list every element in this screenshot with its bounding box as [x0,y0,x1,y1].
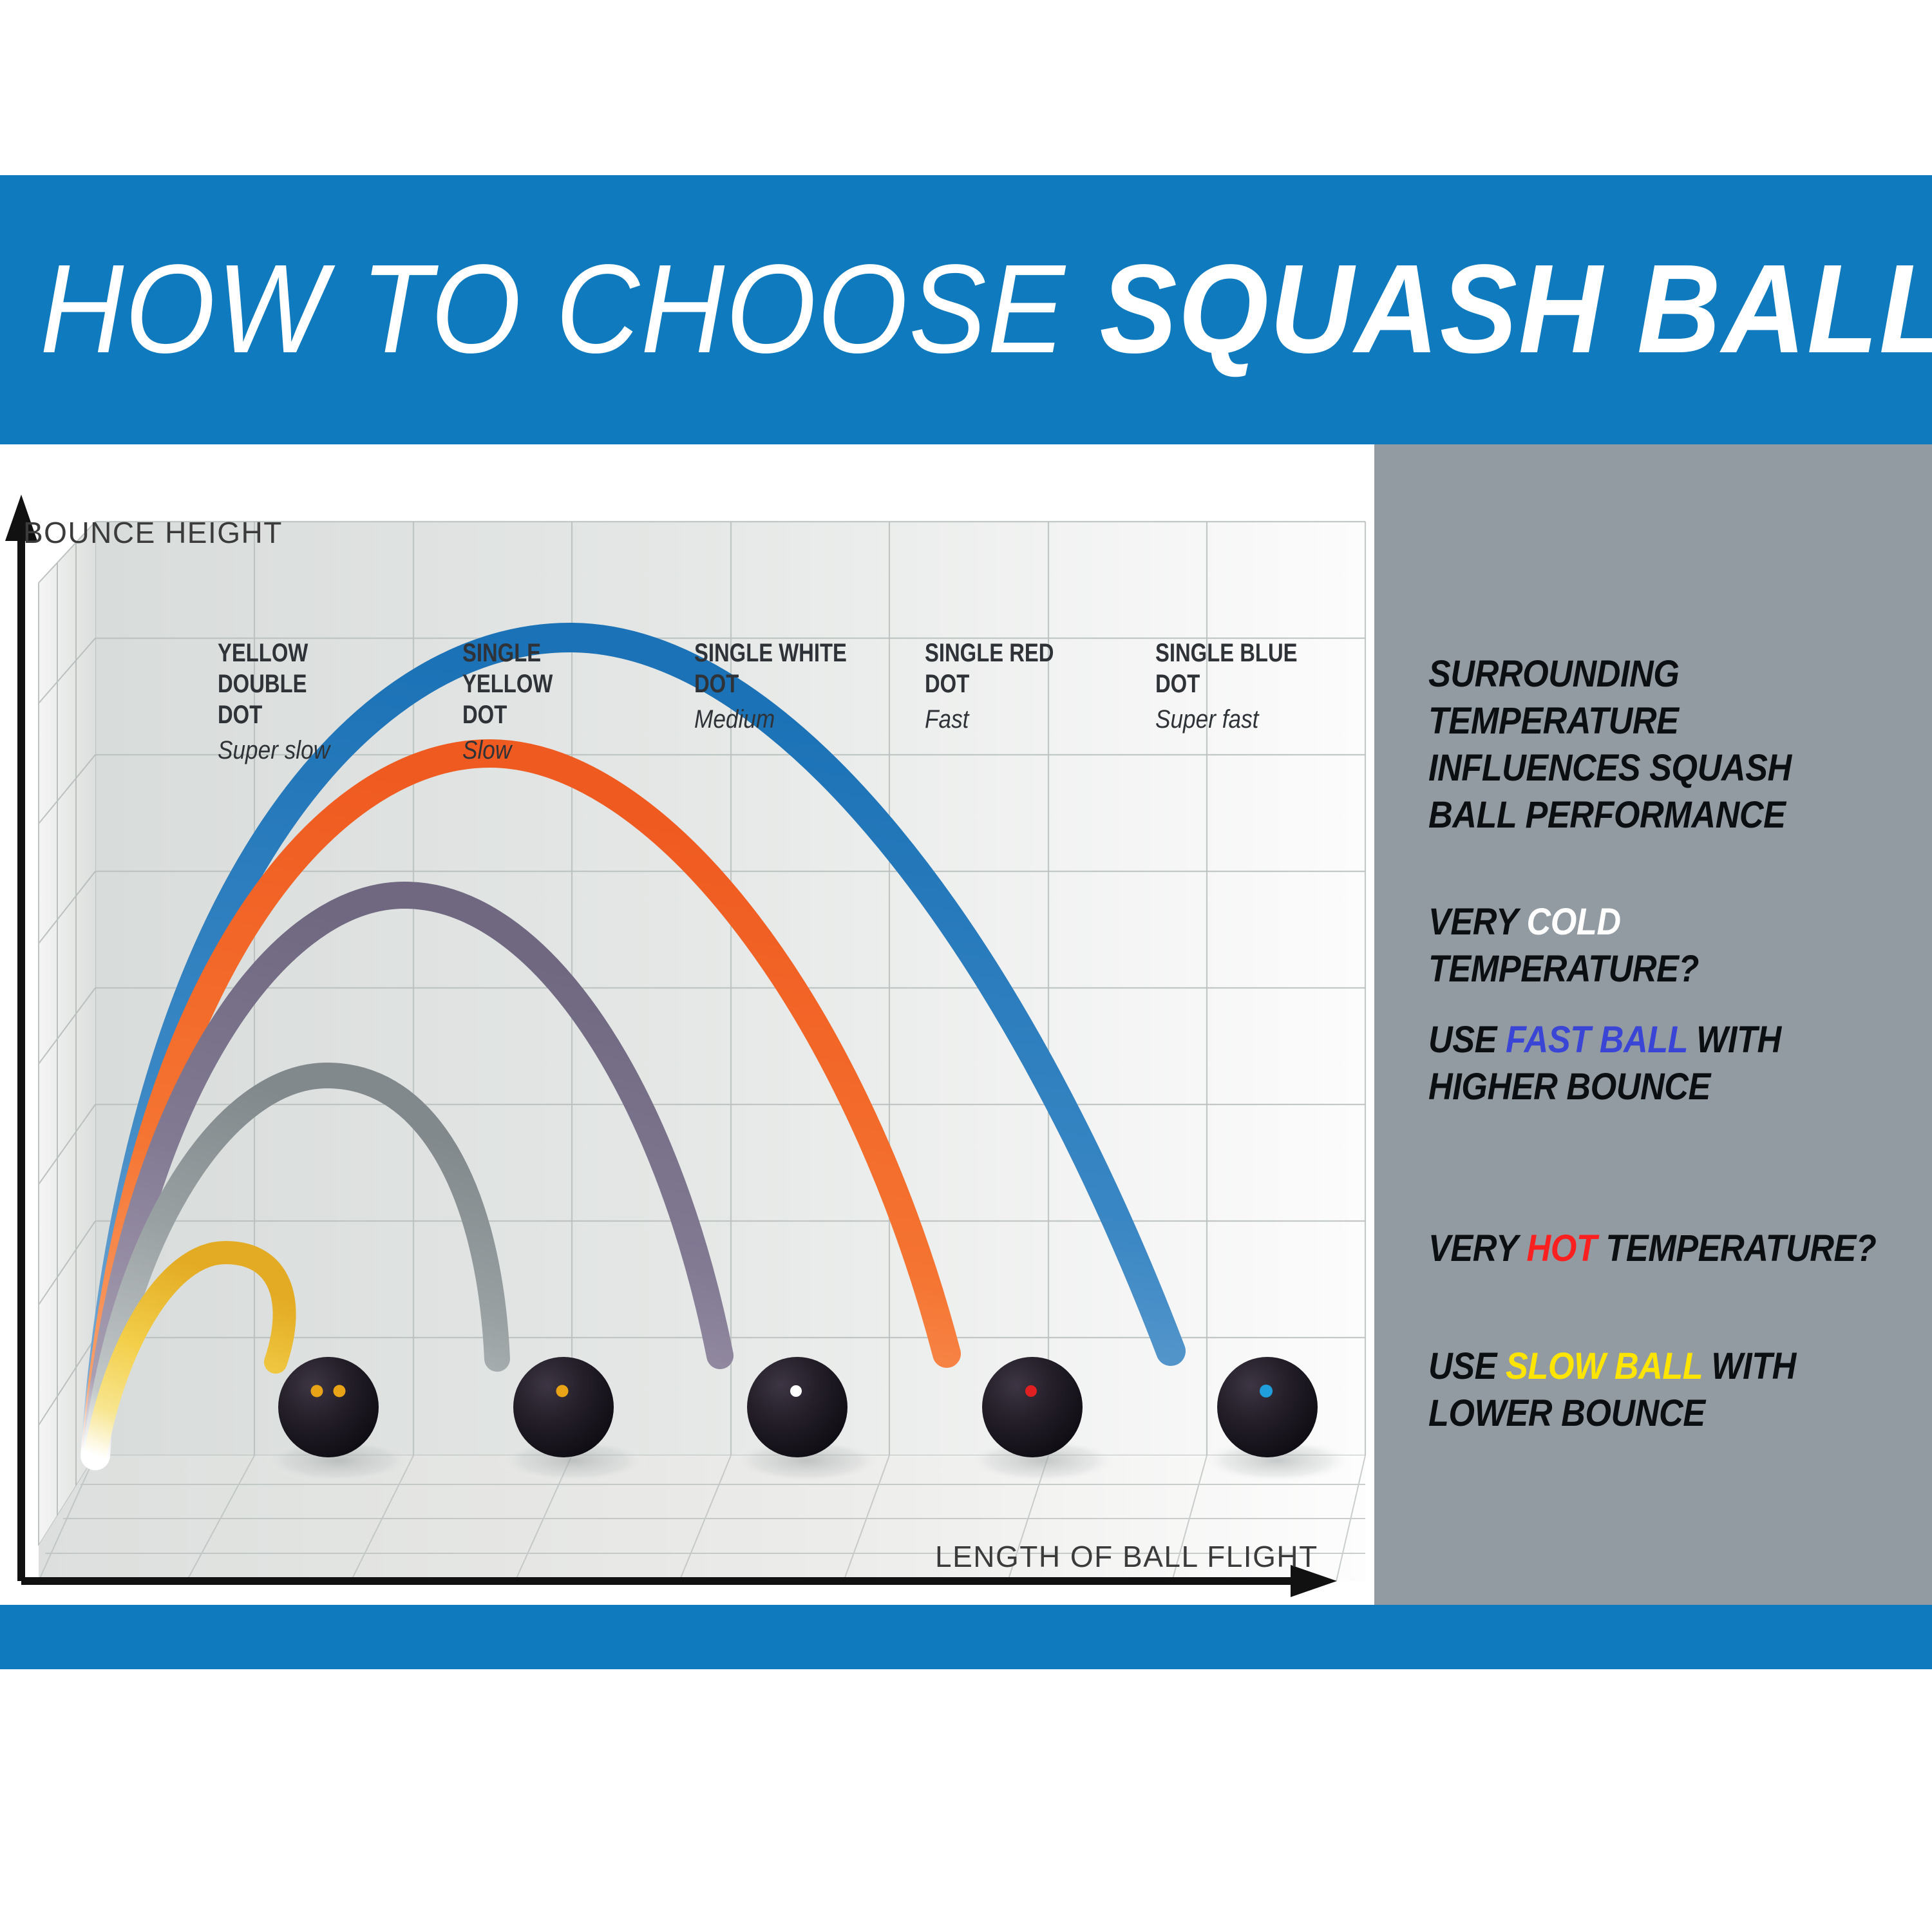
cold-post: TEMPERATURE? [1428,948,1699,990]
legend-speed: Slow [462,735,649,765]
cold-pre: VERY [1428,901,1527,943]
panel-hot-question: VERY HOT TEMPERATURE? [1428,1225,1886,1272]
chart-canvas [0,444,1374,1605]
ball-dot [556,1385,569,1397]
legend-single-yellow-dot: SINGLE YELLOW DOT Slow [462,638,675,765]
slow-pre: USE [1428,1345,1506,1387]
legend-name: SINGLE YELLOW DOT [462,638,637,730]
ball-yellow-double-dot [278,1357,379,1457]
ball-dot [790,1385,802,1397]
legend-speed: Super fast [1155,705,1342,734]
panel-cold-advice: USE FAST BALL WITH HIGHER BOUNCE [1428,1016,1886,1110]
legend-single-blue-dot: SINGLE BLUE DOT Super fast [1155,638,1368,734]
panel-hot-advice: USE SLOW BALL WITH LOWER BOUNCE [1428,1343,1886,1437]
hot-pre: VERY [1428,1227,1527,1269]
panel-heading-temperature: SURROUNDING TEMPERATURE INFLUENCES SQUAS… [1428,650,1886,838]
ball-dot [334,1385,346,1397]
footer-band [0,1605,1932,1669]
x-axis-label: LENGTH OF BALL FLIGHT [935,1539,1318,1574]
fast-pre: USE [1428,1019,1506,1061]
legend-name: SINGLE BLUE DOT [1155,638,1330,699]
hot-keyword: HOT [1527,1227,1597,1269]
legend-name: SINGLE WHITE DOT [694,638,869,699]
ball-single-blue-dot [1217,1357,1318,1457]
ball-single-white-dot [747,1357,848,1457]
page-title-light: HOW TO CHOOSE [40,238,1099,379]
legend-speed: Super slow [218,735,404,765]
hot-post: TEMPERATURE? [1596,1227,1876,1269]
legend-speed: Medium [694,705,881,734]
slow-ball-keyword: SLOW BALL [1506,1345,1702,1387]
legend-name: YELLOW DOUBLE DOT [218,638,392,730]
ball-dot [1025,1385,1037,1397]
page-title-bold: SQUASH BALLS [1099,238,1932,379]
ball-dot [1260,1385,1273,1397]
legend-single-white-dot: SINGLE WHITE DOT Medium [694,638,907,734]
infographic-root: HOW TO CHOOSE SQUASH BALLS SURROUNDING T… [0,0,1932,1932]
ball-single-red-dot [982,1357,1083,1457]
bounce-chart: YELLOW DOUBLE DOT Super slow SINGLE YELL… [0,444,1374,1605]
fast-ball-keyword: FAST BALL [1506,1019,1687,1061]
ball-single-yellow-dot [513,1357,614,1457]
legend-single-red-dot: SINGLE RED DOT Fast [925,638,1137,734]
cold-keyword: COLD [1527,901,1621,943]
panel-cold-question: VERY COLD TEMPERATURE? [1428,898,1886,992]
legend-yellow-double-dot: YELLOW DOUBLE DOT Super slow [218,638,430,765]
legend-speed: Fast [925,705,1112,734]
ball-dot [311,1385,323,1397]
page-title: HOW TO CHOOSE SQUASH BALLS [40,229,1758,390]
y-axis-label: BOUNCE HEIGHT [23,515,283,550]
legend-name: SINGLE RED DOT [925,638,1099,699]
